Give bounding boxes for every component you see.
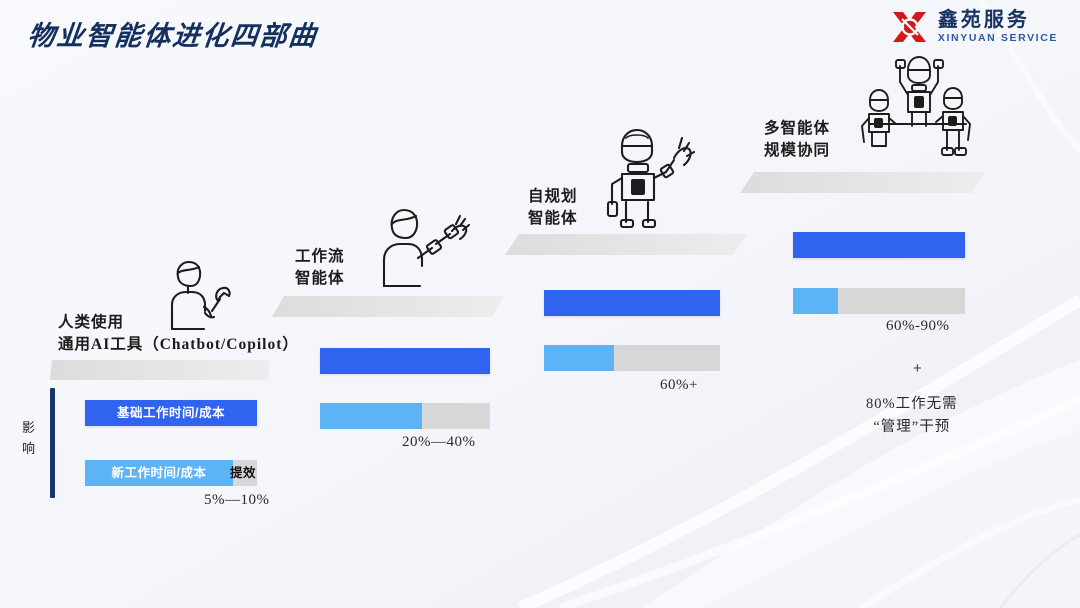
stage-3-new-bar-track [544, 345, 720, 371]
stage-3-label-line2: 智能体 [528, 208, 578, 230]
stage-2-label-line2: 智能体 [295, 268, 345, 290]
stage-4-note: 80%工作无需 “管理”干预 [866, 393, 958, 439]
stage-1-pct: 5%—10% [204, 492, 270, 509]
logo-name-cn: 鑫苑服务 [938, 10, 1058, 30]
stage-4-plus-sign: + [913, 360, 922, 377]
stage-3-label-line1: 自规划 [528, 186, 578, 208]
stage-2-base-bar [320, 348, 490, 374]
stage-3-new-bar-fill [544, 345, 614, 371]
stage-4-platform [738, 170, 988, 195]
stage-1-new-bar-label: 新工作时间/成本 [85, 460, 233, 486]
stage-4-note-line1: 80%工作无需 [866, 393, 958, 416]
stage-1-platform [50, 358, 272, 382]
stage-2-new-bar-fill [320, 403, 422, 429]
stage-4-new-bar-track [793, 288, 965, 314]
stage-3-base-bar [544, 290, 720, 316]
stage-4-base-bar [793, 232, 965, 258]
stage-4-label-line2: 规模协同 [764, 140, 830, 162]
stage-1-base-bar-label: 基础工作时间/成本 [85, 400, 257, 426]
stage-1-label-line2: 通用AI工具（Chatbot/Copilot） [58, 334, 299, 356]
stage-4-label: 多智能体 规模协同 [764, 118, 830, 163]
stage-3-pct: 60%+ [660, 377, 698, 394]
stage-2-pct: 20%—40% [402, 434, 476, 451]
stage-4-pct: 60%-90% [886, 318, 950, 335]
stage-2-label-line1: 工作流 [295, 246, 345, 268]
logo-name-en: XINYUAN SERVICE [938, 33, 1058, 44]
stage-4-new-bar-fill [793, 288, 838, 314]
stage-3-platform [503, 232, 749, 257]
page-title: 物业智能体进化四部曲 [26, 14, 320, 53]
stage-3-label: 自规划 智能体 [528, 186, 578, 231]
stage-1-label-line1: 人类使用 [58, 312, 299, 334]
stage-2-new-bar-track [320, 403, 490, 429]
xinyuan-x-logo-icon [890, 8, 930, 46]
stage-4-label-line1: 多智能体 [764, 118, 830, 140]
impact-axis-label: 影响 [20, 418, 38, 460]
brand-logo: 鑫苑服务 XINYUAN SERVICE [890, 8, 1058, 46]
person-robotic-arm-icon [370, 198, 472, 290]
multi-robot-team-icon [856, 52, 978, 162]
impact-axis-line [50, 388, 55, 498]
stage-2-label: 工作流 智能体 [295, 246, 345, 291]
stage-2-platform [270, 294, 506, 319]
stage-1-label: 人类使用 通用AI工具（Chatbot/Copilot） [58, 312, 299, 357]
stage-1-gain-label: 提效 [228, 460, 258, 486]
humanoid-robot-icon [592, 124, 700, 228]
stage-4-note-line2: “管理”干预 [866, 416, 958, 439]
logo-text: 鑫苑服务 XINYUAN SERVICE [938, 10, 1058, 44]
